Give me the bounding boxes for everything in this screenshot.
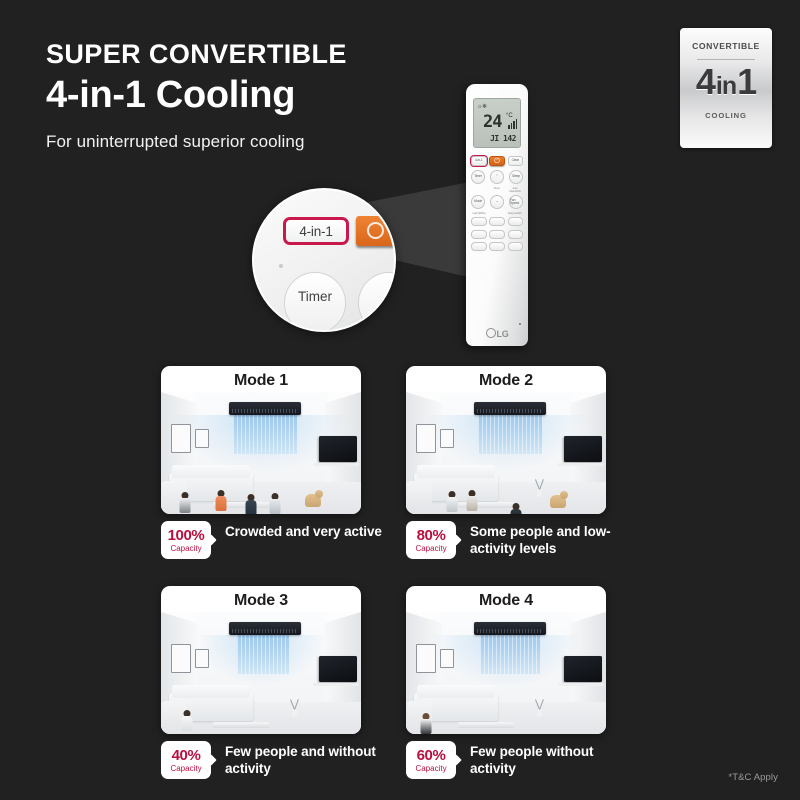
lcd-bottom-code: JI 142 bbox=[490, 134, 516, 143]
remote-sublabels-row-3: Light (lit/Dis) Diagnosis/Fn bbox=[471, 212, 523, 215]
ac-unit-3 bbox=[229, 622, 301, 635]
headline-subtitle: For uninterrupted superior cooling bbox=[46, 132, 466, 152]
sublabel-light: Light (lit/Dis) bbox=[471, 212, 487, 215]
magnified-power-button[interactable] bbox=[356, 216, 396, 246]
badge-top-label: CONVERTIBLE bbox=[692, 41, 760, 51]
magnified-up-button[interactable] bbox=[358, 272, 396, 332]
remote-row-5 bbox=[471, 230, 523, 239]
remote-row-3: Mode ⌄ Fan Speed bbox=[471, 195, 523, 209]
capacity-description-1: Crowded and very active bbox=[225, 524, 382, 541]
capacity-percent-1: 100% bbox=[168, 528, 205, 543]
remote-clear-button[interactable]: Clear bbox=[508, 156, 524, 166]
airflow-4 bbox=[480, 635, 540, 674]
magnified-4in1-button[interactable]: 4-in-1 bbox=[283, 217, 349, 245]
capacity-label-3: Capacity bbox=[170, 765, 201, 773]
remote-blank-button-5[interactable] bbox=[489, 230, 505, 239]
mode-panel-2: Mode 2 bbox=[406, 366, 606, 514]
badge-number-4: 4 bbox=[696, 64, 715, 100]
lg-logo-text: LG bbox=[497, 329, 509, 339]
lg-logo: LG bbox=[466, 328, 528, 339]
mode-3-title: Mode 3 bbox=[161, 592, 361, 610]
badge-number-group: 4 in 1 bbox=[696, 64, 756, 100]
remote-sublabels-row-2: Temp. Auto Clean/DnD bbox=[471, 187, 523, 193]
sublabel-blank-1 bbox=[471, 187, 487, 193]
ac-unit-2 bbox=[474, 402, 546, 415]
badge-bottom-label: COOLING bbox=[705, 111, 747, 120]
remote-blank-button-7[interactable] bbox=[471, 242, 487, 251]
remote-row-1: 4-in-1 ⏻ Clear bbox=[471, 156, 523, 166]
tv-2 bbox=[564, 436, 602, 462]
sublabel-auto-clean: Auto Clean/DnD bbox=[507, 187, 523, 193]
mode-4-title: Mode 4 bbox=[406, 592, 606, 610]
remote-temp-up-button[interactable]: ⌃ bbox=[490, 170, 504, 184]
remote-blank-button-3[interactable] bbox=[508, 217, 524, 226]
airflow-2 bbox=[478, 415, 542, 454]
remote-control[interactable]: ☼❄ 24 °C JI 142 4-in-1 ⏻ Clear Timer ⌃ S… bbox=[466, 84, 528, 346]
plant-3 bbox=[289, 698, 300, 717]
mode-panel-1: Mode 1 bbox=[161, 366, 361, 514]
capacity-row-3: 40% Capacity Few people and without acti… bbox=[161, 741, 386, 779]
capacity-label-2: Capacity bbox=[415, 545, 446, 553]
mode-2-title: Mode 2 bbox=[406, 372, 606, 390]
remote-4in1-button[interactable]: 4-in-1 bbox=[471, 156, 487, 166]
remote-led-dot bbox=[279, 264, 283, 268]
remote-lcd-display: ☼❄ 24 °C JI 142 bbox=[473, 98, 521, 148]
mode-4-room-image bbox=[406, 612, 606, 734]
dog-1 bbox=[305, 494, 321, 507]
mode-panel-4: Mode 4 bbox=[406, 586, 606, 734]
remote-fan-speed-button[interactable]: Fan Speed bbox=[509, 195, 523, 209]
mode-3-room-image bbox=[161, 612, 361, 734]
terms-note: *T&C Apply bbox=[728, 772, 778, 783]
capacity-percent-3: 40% bbox=[172, 748, 201, 763]
convertible-badge: CONVERTIBLE 4 in 1 COOLING bbox=[680, 28, 772, 148]
mode-1-room-image bbox=[161, 392, 361, 514]
capacity-percent-2: 80% bbox=[417, 528, 446, 543]
promo-banner: SUPER CONVERTIBLE 4-in-1 Cooling For uni… bbox=[0, 0, 800, 800]
remote-temp-down-button[interactable]: ⌄ bbox=[490, 195, 504, 209]
capacity-row-4: 60% Capacity Few people without activity bbox=[406, 741, 631, 779]
tv-1 bbox=[319, 436, 357, 462]
remote-blank-button-6[interactable] bbox=[508, 230, 524, 239]
airflow-3 bbox=[237, 635, 289, 674]
remote-blank-button-1[interactable] bbox=[471, 217, 487, 226]
magnified-timer-button[interactable]: Timer bbox=[284, 272, 346, 332]
airflow-1 bbox=[233, 415, 297, 454]
lg-logo-ring bbox=[486, 328, 496, 338]
capacity-badge-1: 100% Capacity bbox=[161, 521, 211, 559]
remote-blank-button-2[interactable] bbox=[489, 217, 505, 226]
magnifier-callout: 4-in-1 Timer bbox=[252, 188, 396, 332]
capacity-description-4: Few people without activity bbox=[470, 744, 631, 778]
capacity-label-1: Capacity bbox=[170, 545, 201, 553]
tv-3 bbox=[319, 656, 357, 682]
capacity-badge-4: 60% Capacity bbox=[406, 741, 456, 779]
remote-blank-button-9[interactable] bbox=[508, 242, 524, 251]
remote-power-button[interactable]: ⏻ bbox=[489, 156, 505, 166]
remote-blank-button-4[interactable] bbox=[471, 230, 487, 239]
capacity-badge-2: 80% Capacity bbox=[406, 521, 456, 559]
remote-row-4 bbox=[471, 217, 523, 226]
remote-row-2: Timer ⌃ Sleep bbox=[471, 170, 523, 184]
headline-kicker: SUPER CONVERTIBLE bbox=[46, 40, 466, 69]
remote-blank-button-8[interactable] bbox=[489, 242, 505, 251]
ac-unit-4 bbox=[474, 622, 546, 635]
lcd-temperature: 24 bbox=[483, 112, 501, 132]
plant-4 bbox=[534, 698, 545, 717]
sublabel-temp: Temp. bbox=[489, 187, 505, 193]
lcd-fan-bars bbox=[508, 119, 517, 129]
remote-mode-button[interactable]: Mode bbox=[471, 195, 485, 209]
ac-unit-1 bbox=[229, 402, 301, 415]
lcd-mode-icons: ☼❄ bbox=[477, 103, 487, 110]
badge-in-text: in bbox=[716, 74, 736, 99]
sublabel-blank-2 bbox=[489, 212, 505, 215]
badge-number-1: 1 bbox=[737, 64, 756, 100]
badge-divider bbox=[697, 59, 755, 60]
remote-row-6 bbox=[471, 242, 523, 251]
capacity-description-3: Few people and without activity bbox=[225, 744, 386, 778]
mode-1-title: Mode 1 bbox=[161, 372, 361, 390]
mode-2-room-image bbox=[406, 392, 606, 514]
plant-2 bbox=[534, 478, 545, 497]
capacity-badge-3: 40% Capacity bbox=[161, 741, 211, 779]
remote-sleep-button[interactable]: Sleep bbox=[509, 170, 523, 184]
capacity-percent-4: 60% bbox=[417, 748, 446, 763]
mode-panel-3: Mode 3 bbox=[161, 586, 361, 734]
remote-button-grid: 4-in-1 ⏻ Clear Timer ⌃ Sleep Temp. Auto … bbox=[471, 156, 523, 255]
remote-indicator-dot bbox=[519, 323, 522, 326]
remote-timer-button[interactable]: Timer bbox=[471, 170, 485, 184]
sublabel-diagnosis: Diagnosis/Fn bbox=[507, 212, 523, 215]
tv-4 bbox=[564, 656, 602, 682]
capacity-description-2: Some people and low-activity levels bbox=[470, 524, 631, 558]
dog-2 bbox=[550, 495, 566, 508]
capacity-row-2: 80% Capacity Some people and low-activit… bbox=[406, 521, 631, 559]
page-title: 4-in-1 Cooling bbox=[46, 73, 466, 119]
capacity-label-4: Capacity bbox=[415, 765, 446, 773]
headline-block: SUPER CONVERTIBLE 4-in-1 Cooling For uni… bbox=[46, 40, 466, 152]
capacity-row-1: 100% Capacity Crowded and very active bbox=[161, 521, 386, 559]
